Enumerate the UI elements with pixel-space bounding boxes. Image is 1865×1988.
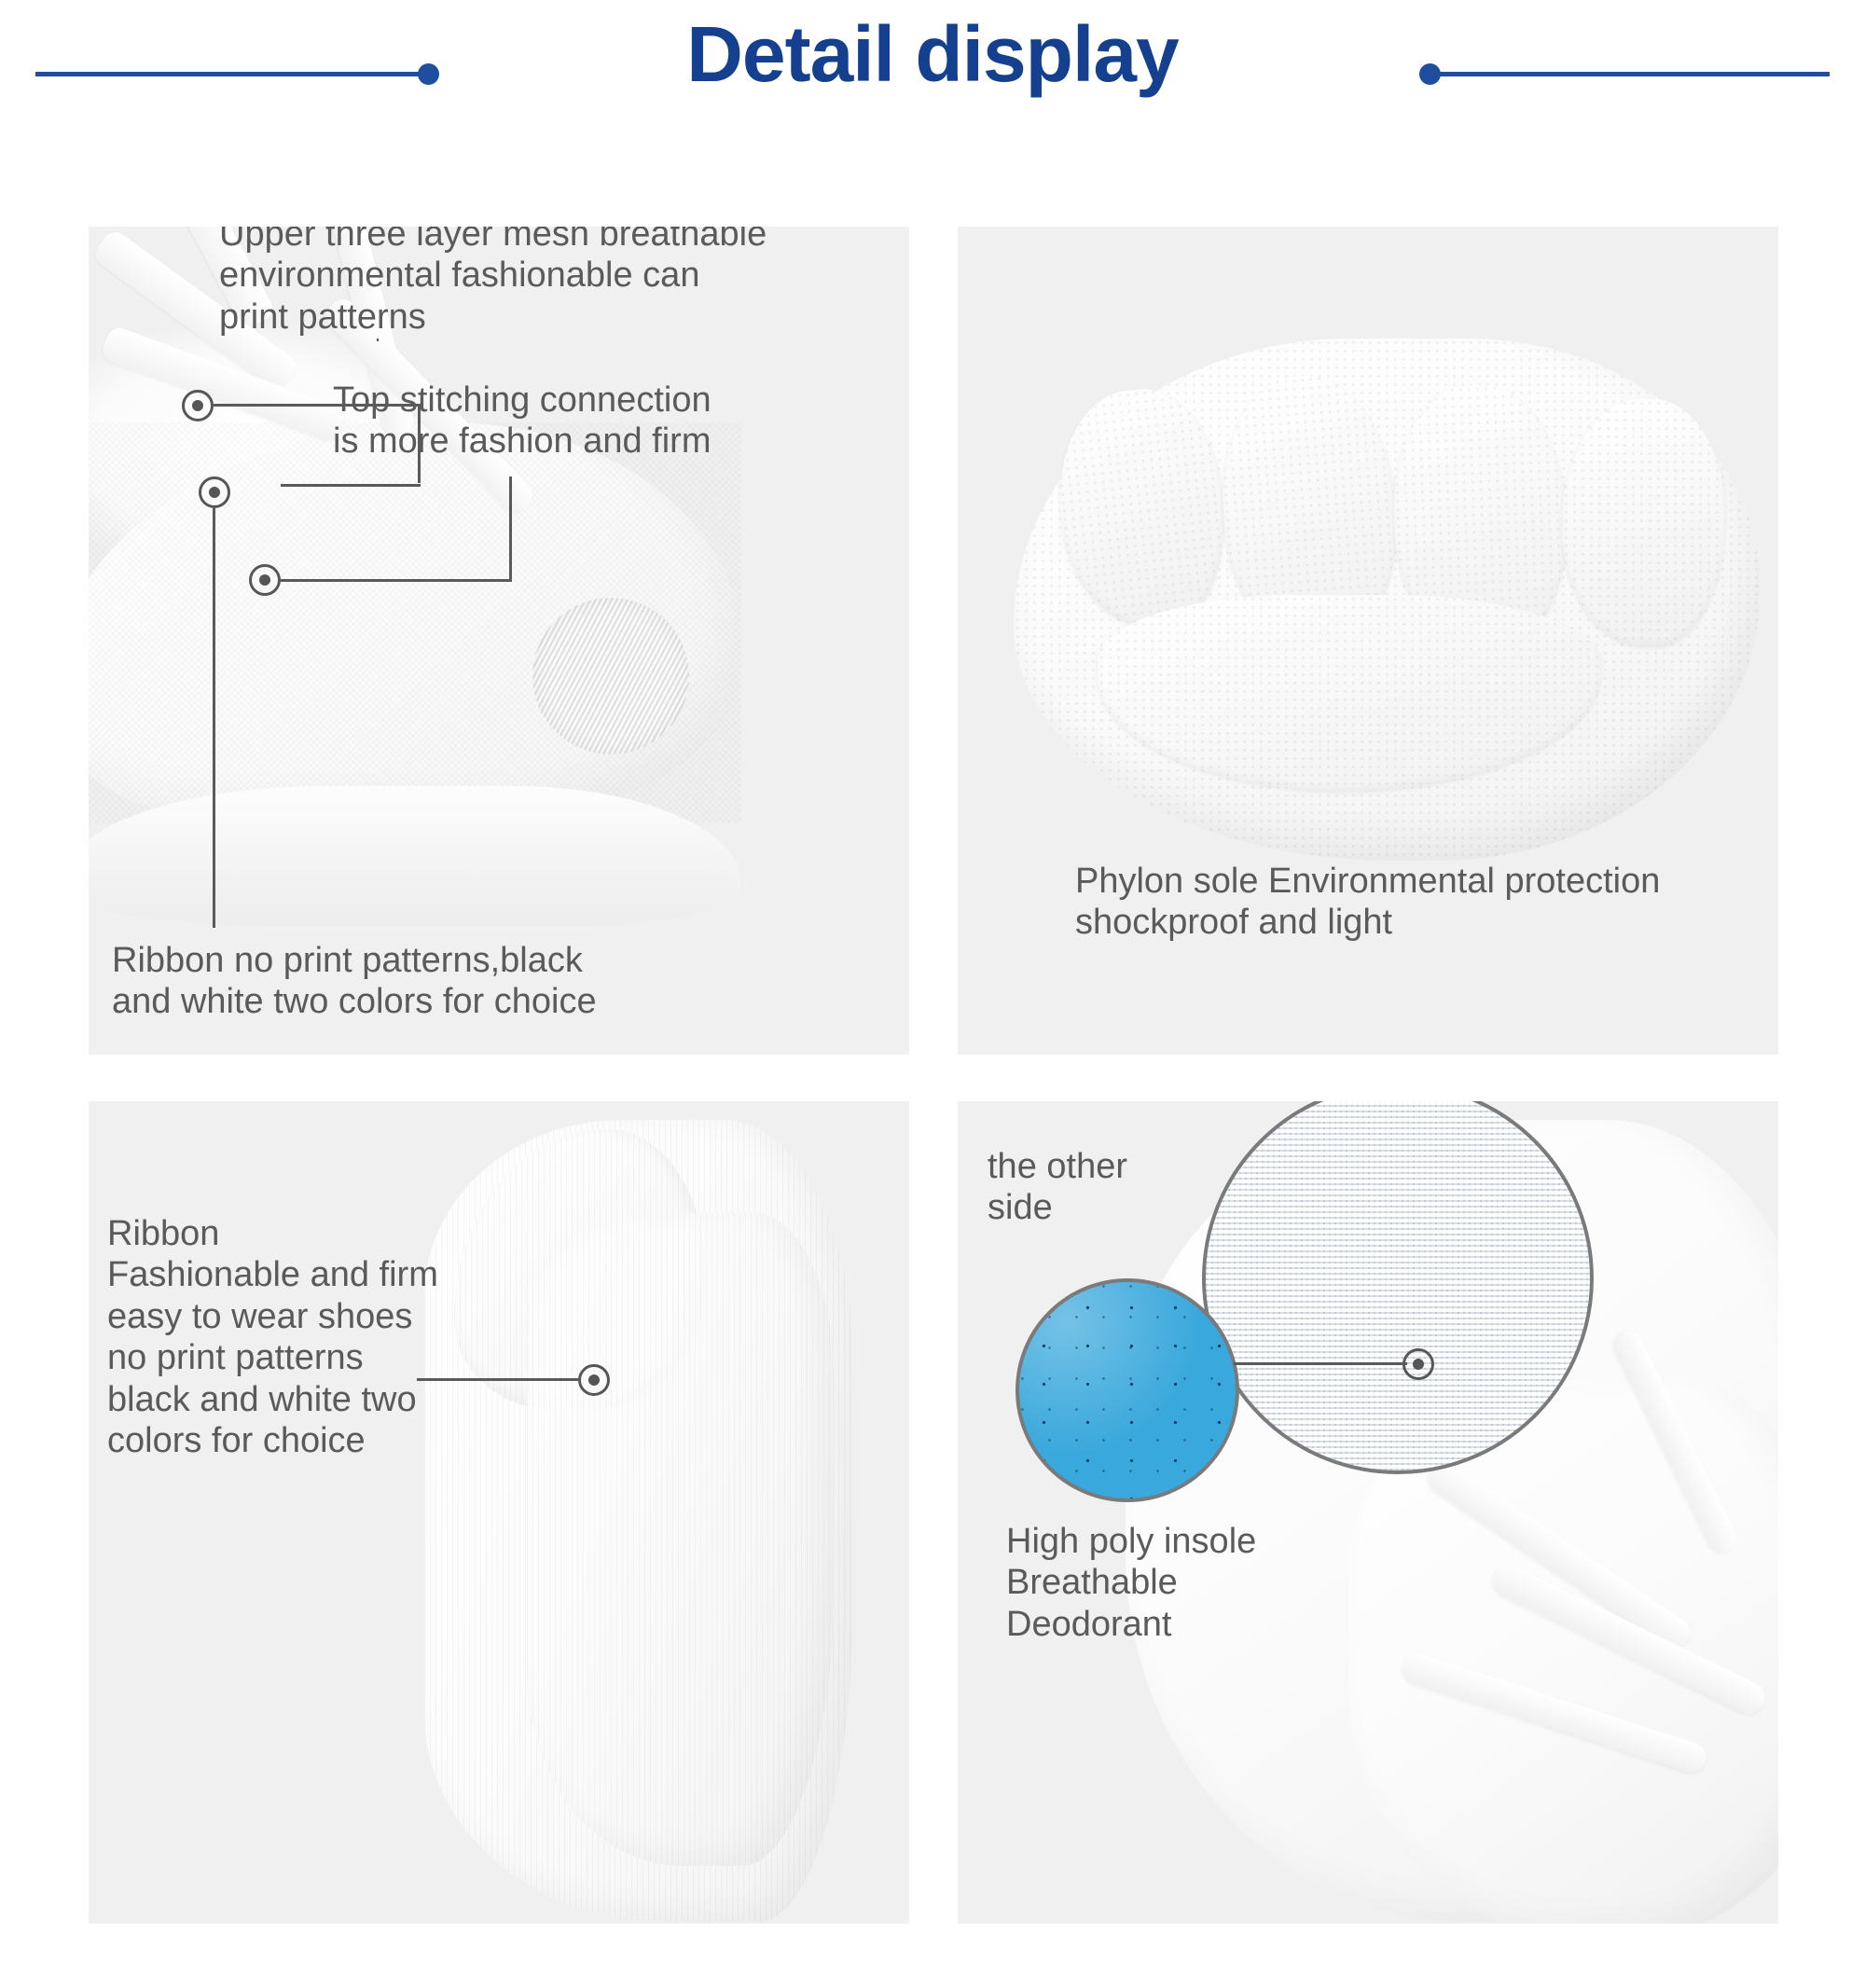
panel-insole: the other side High poly insole Breathab… (958, 1101, 1778, 1924)
leader-line-mesh-h (214, 404, 421, 407)
leader-line-stitch-h (281, 484, 421, 487)
leader-line-ribbon-v (213, 508, 215, 928)
callout-marker-top-stitching[interactable] (249, 564, 281, 596)
other-side-note: the other side (988, 1146, 1211, 1229)
detail-display-page: Detail display Upper three layer mesh br… (0, 0, 1865, 1988)
leader-line-spacer (377, 338, 379, 341)
panel-ribbon-collar: Ribbon Fashionable and firm easy to wear… (89, 1101, 909, 1924)
panel-phylon-sole: Phylon sole Environmental protection sho… (958, 227, 1778, 1055)
high-poly-insole-note: High poly insole Breathable Deodorant (1006, 1521, 1398, 1645)
stitching-closeup-inset (532, 598, 689, 754)
ribbon-collar-note: Ribbon Fashionable and firm easy to wear… (107, 1213, 555, 1462)
leader-line-ribbon-collar (417, 1378, 580, 1381)
callout-marker-insole[interactable] (1402, 1348, 1434, 1380)
shoe-upper-photo (89, 227, 909, 1055)
leader-line-stitching-v (509, 476, 512, 581)
upper-mesh-note: Upper three layer mesh breathable enviro… (219, 227, 797, 338)
callout-marker-upper-mesh[interactable] (182, 390, 214, 421)
leader-line-stitching-h (281, 579, 512, 582)
top-stitching-note: Top stitching connection is more fashion… (333, 380, 781, 462)
leader-line-insole (1234, 1362, 1407, 1365)
leader-line-mesh-v (418, 404, 421, 483)
phylon-sole-note: Phylon sole Environmental protection sho… (1075, 861, 1747, 944)
detail-panel-grid: Upper three layer mesh breathable enviro… (89, 227, 1778, 1924)
decorative-line-right (1429, 72, 1830, 76)
panel-upper-mesh: Upper three layer mesh breathable enviro… (89, 227, 909, 1055)
callout-marker-ribbon[interactable] (199, 476, 230, 508)
ribbon-note: Ribbon no print patterns,black and white… (112, 940, 671, 1023)
blue-insole-inset (1015, 1278, 1239, 1502)
callout-marker-ribbon-collar[interactable] (578, 1364, 610, 1396)
page-title: Detail display (0, 9, 1865, 100)
page-header: Detail display (0, 0, 1865, 149)
